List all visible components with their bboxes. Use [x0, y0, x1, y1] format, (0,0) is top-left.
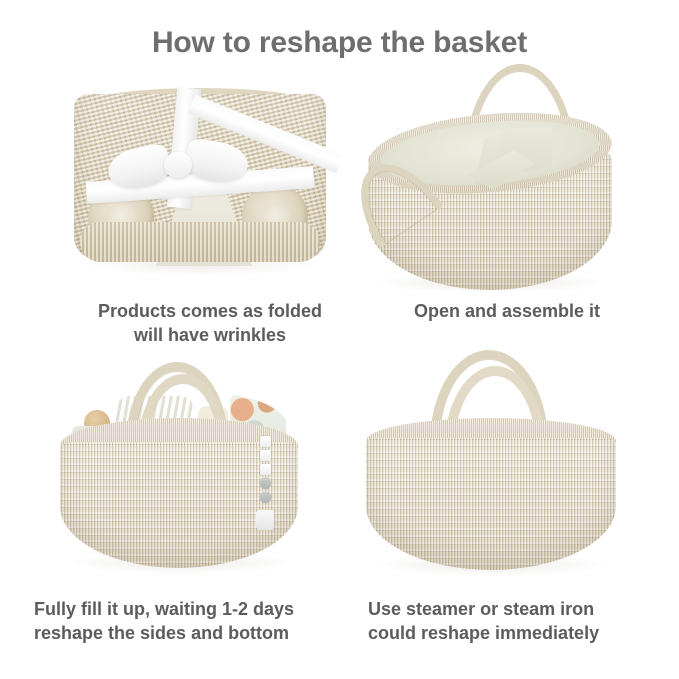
folded-basket-photo [46, 72, 356, 287]
step-fill-caption: Fully fill it up, waiting 1-2 days resha… [34, 598, 364, 646]
page-title: How to reshape the basket [0, 26, 679, 59]
step-steam-caption: Use steamer or steam iron could reshape … [368, 598, 668, 646]
reshaped-basket-photo [352, 342, 652, 587]
step-open-caption: Open and assemble it [372, 300, 642, 324]
open-basket-photo [350, 58, 650, 290]
pacifier-clip [260, 436, 270, 528]
round-bead [260, 478, 271, 489]
round-bead [260, 492, 271, 503]
pacifier-clip-tip [256, 510, 274, 530]
step-fill-image: weeno [48, 352, 348, 587]
how-to-reshape-infographic: How to reshape the basket Products comes… [0, 0, 679, 679]
step-folded-caption: Products comes as folded will have wrink… [60, 300, 360, 348]
letter-bead [260, 450, 271, 461]
step-folded-image [46, 72, 356, 287]
letter-bead [260, 464, 271, 475]
folded-basket-bottom-edge [80, 222, 320, 262]
step-steam-image [352, 342, 652, 587]
letter-bead [260, 436, 271, 447]
ribbon-bow-knot [164, 152, 192, 178]
reshaped-basket-body [366, 438, 616, 570]
step-open-image [350, 58, 650, 290]
filled-basket-photo: weeno [48, 352, 348, 587]
